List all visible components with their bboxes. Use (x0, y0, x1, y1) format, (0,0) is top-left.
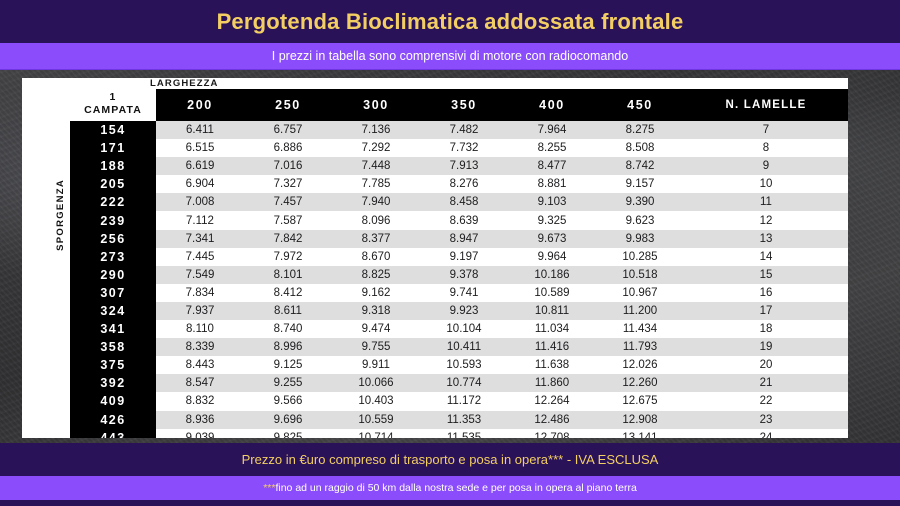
lamelle-cell: 17 (684, 302, 848, 320)
axis-label-larghezza: LARGHEZZA (150, 78, 218, 89)
corner-line-1: 1 (70, 91, 156, 103)
row-header-sporgenza: 307 (70, 284, 156, 302)
price-cell: 9.911 (332, 356, 420, 374)
price-cell: 7.937 (156, 302, 244, 320)
price-cell: 8.936 (156, 411, 244, 429)
row-header-sporgenza: 324 (70, 302, 156, 320)
price-cell: 9.923 (420, 302, 508, 320)
price-cell: 8.825 (332, 266, 420, 284)
price-cell: 8.443 (156, 356, 244, 374)
price-cell: 8.881 (508, 175, 596, 193)
price-cell: 6.411 (156, 121, 244, 139)
price-cell: 9.623 (596, 211, 684, 229)
price-cell: 10.559 (332, 411, 420, 429)
price-cell: 8.275 (596, 121, 684, 139)
table-row: 1716.5156.8867.2927.7328.2558.5088 (70, 139, 848, 157)
price-cell: 13.141 (596, 429, 684, 438)
price-cell: 7.482 (420, 121, 508, 139)
row-header-sporgenza: 205 (70, 175, 156, 193)
price-cell: 7.964 (508, 121, 596, 139)
row-header-sporgenza: 239 (70, 211, 156, 229)
footer-note-text: ***fino ad un raggio di 50 km dalla nost… (263, 482, 637, 494)
price-cell: 7.842 (244, 230, 332, 248)
price-cell: 7.327 (244, 175, 332, 193)
price-cell: 10.411 (420, 338, 508, 356)
header-row: 1 CAMPATA 200 250 300 350 400 450 N. LAM… (70, 89, 848, 121)
price-cell: 10.967 (596, 284, 684, 302)
row-header-sporgenza: 290 (70, 266, 156, 284)
table-row: 3758.4439.1259.91110.59311.63812.02620 (70, 356, 848, 374)
price-table-body: 1546.4116.7577.1367.4827.9648.27571716.5… (70, 121, 848, 438)
price-cell: 8.742 (596, 157, 684, 175)
subtitle-band: I prezzi in tabella sono comprensivi di … (0, 43, 900, 70)
price-cell: 7.940 (332, 193, 420, 211)
price-cell: 7.112 (156, 211, 244, 229)
title-band: Pergotenda Bioclimatica addossata fronta… (0, 0, 900, 43)
price-cell: 8.670 (332, 248, 420, 266)
price-cell: 9.157 (596, 175, 684, 193)
price-cell: 10.811 (508, 302, 596, 320)
row-header-sporgenza: 341 (70, 320, 156, 338)
price-cell: 11.200 (596, 302, 684, 320)
lamelle-cell: 13 (684, 230, 848, 248)
price-cell: 8.996 (244, 338, 332, 356)
price-cell: 8.276 (420, 175, 508, 193)
price-cell: 8.639 (420, 211, 508, 229)
price-cell: 6.757 (244, 121, 332, 139)
table-row: 3588.3398.9969.75510.41111.41611.79319 (70, 338, 848, 356)
price-cell: 10.066 (332, 374, 420, 392)
price-cell: 9.255 (244, 374, 332, 392)
header-corner-campata: 1 CAMPATA (70, 89, 156, 121)
table-row: 2907.5498.1018.8259.37810.18610.51815 (70, 266, 848, 284)
price-cell: 9.474 (332, 320, 420, 338)
price-cell: 9.103 (508, 193, 596, 211)
price-cell: 11.034 (508, 320, 596, 338)
lamelle-cell: 7 (684, 121, 848, 139)
lamelle-cell: 24 (684, 429, 848, 438)
price-cell: 9.197 (420, 248, 508, 266)
price-cell: 6.886 (244, 139, 332, 157)
page-subtitle: I prezzi in tabella sono comprensivi di … (272, 49, 628, 63)
price-cell: 9.318 (332, 302, 420, 320)
price-cell: 10.186 (508, 266, 596, 284)
price-cell: 7.457 (244, 193, 332, 211)
price-cell: 11.416 (508, 338, 596, 356)
column-header-250: 250 (244, 89, 332, 121)
price-cell: 8.477 (508, 157, 596, 175)
price-cell: 6.515 (156, 139, 244, 157)
price-cell: 8.096 (332, 211, 420, 229)
page-title: Pergotenda Bioclimatica addossata fronta… (217, 9, 684, 35)
footer-note-band: ***fino ad un raggio di 50 km dalla nost… (0, 476, 900, 500)
table-row: 2737.4457.9728.6709.1979.96410.28514 (70, 248, 848, 266)
price-table: 1 CAMPATA 200 250 300 350 400 450 N. LAM… (70, 89, 848, 438)
table-row: 3247.9378.6119.3189.92310.81111.20017 (70, 302, 848, 320)
row-header-sporgenza: 256 (70, 230, 156, 248)
price-cell: 7.341 (156, 230, 244, 248)
corner-line-2: CAMPATA (70, 104, 156, 116)
price-cell: 12.675 (596, 392, 684, 410)
table-row: 2227.0087.4577.9408.4589.1039.39011 (70, 193, 848, 211)
price-cell: 7.008 (156, 193, 244, 211)
lamelle-cell: 9 (684, 157, 848, 175)
price-cell: 9.039 (156, 429, 244, 438)
lamelle-cell: 22 (684, 392, 848, 410)
price-cell: 9.125 (244, 356, 332, 374)
table-row: 4268.9369.69610.55911.35312.48612.90823 (70, 411, 848, 429)
price-cell: 7.913 (420, 157, 508, 175)
price-cell: 7.785 (332, 175, 420, 193)
price-cell: 10.104 (420, 320, 508, 338)
price-cell: 11.860 (508, 374, 596, 392)
row-header-sporgenza: 409 (70, 392, 156, 410)
table-row: 3077.8348.4129.1629.74110.58910.96716 (70, 284, 848, 302)
price-cell: 6.619 (156, 157, 244, 175)
price-cell: 9.566 (244, 392, 332, 410)
axis-label-sporgenza: SPORGENZA (52, 110, 68, 320)
footer-main-text: Prezzo in €uro compreso di trasporto e p… (242, 452, 659, 467)
column-header-300: 300 (332, 89, 420, 121)
price-cell: 7.016 (244, 157, 332, 175)
table-row: 2397.1127.5878.0968.6399.3259.62312 (70, 211, 848, 229)
price-cell: 7.448 (332, 157, 420, 175)
price-cell: 7.136 (332, 121, 420, 139)
row-header-sporgenza: 171 (70, 139, 156, 157)
footer-note-body: fino ad un raggio di 50 km dalla nostra … (275, 482, 636, 494)
price-cell: 8.611 (244, 302, 332, 320)
price-cell: 8.255 (508, 139, 596, 157)
price-cell: 9.378 (420, 266, 508, 284)
price-cell: 9.825 (244, 429, 332, 438)
price-cell: 7.587 (244, 211, 332, 229)
row-header-sporgenza: 273 (70, 248, 156, 266)
price-cell: 10.589 (508, 284, 596, 302)
price-cell: 9.162 (332, 284, 420, 302)
column-header-450: 450 (596, 89, 684, 121)
price-cell: 11.793 (596, 338, 684, 356)
price-cell: 12.908 (596, 411, 684, 429)
price-cell: 8.412 (244, 284, 332, 302)
price-table-head: 1 CAMPATA 200 250 300 350 400 450 N. LAM… (70, 89, 848, 121)
row-header-sporgenza: 443 (70, 429, 156, 438)
lamelle-cell: 18 (684, 320, 848, 338)
price-cell: 9.983 (596, 230, 684, 248)
lamelle-cell: 23 (684, 411, 848, 429)
price-cell: 7.549 (156, 266, 244, 284)
price-cell: 12.260 (596, 374, 684, 392)
price-cell: 8.740 (244, 320, 332, 338)
row-header-sporgenza: 358 (70, 338, 156, 356)
row-header-sporgenza: 426 (70, 411, 156, 429)
table-row: 2567.3417.8428.3778.9479.6739.98313 (70, 230, 848, 248)
column-header-200: 200 (156, 89, 244, 121)
axis-label-sporgenza-text: SPORGENZA (55, 179, 66, 251)
price-cell: 11.638 (508, 356, 596, 374)
lamelle-cell: 20 (684, 356, 848, 374)
price-cell: 9.755 (332, 338, 420, 356)
table-row: 1886.6197.0167.4487.9138.4778.7429 (70, 157, 848, 175)
lamelle-cell: 11 (684, 193, 848, 211)
price-cell: 10.714 (332, 429, 420, 438)
price-cell: 10.593 (420, 356, 508, 374)
column-header-350: 350 (420, 89, 508, 121)
row-header-sporgenza: 375 (70, 356, 156, 374)
price-cell: 8.339 (156, 338, 244, 356)
row-header-sporgenza: 154 (70, 121, 156, 139)
row-header-sporgenza: 222 (70, 193, 156, 211)
price-grid: 1 CAMPATA 200 250 300 350 400 450 N. LAM… (70, 89, 848, 438)
price-cell: 8.101 (244, 266, 332, 284)
price-cell: 11.535 (420, 429, 508, 438)
table-row: 4439.0399.82510.71411.53512.70813.14124 (70, 429, 848, 438)
price-cell: 10.403 (332, 392, 420, 410)
price-cell: 12.026 (596, 356, 684, 374)
price-cell: 8.110 (156, 320, 244, 338)
price-cell: 12.486 (508, 411, 596, 429)
lamelle-cell: 10 (684, 175, 848, 193)
price-cell: 12.264 (508, 392, 596, 410)
lamelle-cell: 15 (684, 266, 848, 284)
price-cell: 8.377 (332, 230, 420, 248)
column-header-lamelle: N. LAMELLE (684, 89, 848, 121)
lamelle-cell: 21 (684, 374, 848, 392)
lamelle-cell: 16 (684, 284, 848, 302)
price-cell: 8.458 (420, 193, 508, 211)
price-cell: 6.904 (156, 175, 244, 193)
price-cell: 8.832 (156, 392, 244, 410)
price-cell: 11.172 (420, 392, 508, 410)
price-cell: 11.434 (596, 320, 684, 338)
price-cell: 7.445 (156, 248, 244, 266)
footer-note-stars: *** (263, 482, 275, 494)
price-cell: 9.325 (508, 211, 596, 229)
column-header-400: 400 (508, 89, 596, 121)
slide-root: Pergotenda Bioclimatica addossata fronta… (0, 0, 900, 506)
row-header-sporgenza: 392 (70, 374, 156, 392)
price-cell: 7.834 (156, 284, 244, 302)
price-cell: 9.696 (244, 411, 332, 429)
price-cell: 8.947 (420, 230, 508, 248)
table-row: 3928.5479.25510.06610.77411.86012.26021 (70, 374, 848, 392)
table-row: 4098.8329.56610.40311.17212.26412.67522 (70, 392, 848, 410)
price-table-panel: SPORGENZA LARGHEZZA 1 CAMPATA (22, 78, 848, 438)
table-row: 3418.1108.7409.47410.10411.03411.43418 (70, 320, 848, 338)
price-cell: 9.741 (420, 284, 508, 302)
lamelle-cell: 8 (684, 139, 848, 157)
table-row: 1546.4116.7577.1367.4827.9648.2757 (70, 121, 848, 139)
price-cell: 8.508 (596, 139, 684, 157)
price-cell: 7.732 (420, 139, 508, 157)
price-cell: 10.285 (596, 248, 684, 266)
table-row: 2056.9047.3277.7858.2768.8819.15710 (70, 175, 848, 193)
lamelle-cell: 12 (684, 211, 848, 229)
lamelle-cell: 14 (684, 248, 848, 266)
price-cell: 8.547 (156, 374, 244, 392)
row-header-sporgenza: 188 (70, 157, 156, 175)
price-cell: 9.964 (508, 248, 596, 266)
price-cell: 11.353 (420, 411, 508, 429)
price-cell: 10.518 (596, 266, 684, 284)
price-cell: 10.774 (420, 374, 508, 392)
lamelle-cell: 19 (684, 338, 848, 356)
price-cell: 12.708 (508, 429, 596, 438)
price-cell: 7.972 (244, 248, 332, 266)
price-cell: 7.292 (332, 139, 420, 157)
footer-bottom-strip (0, 500, 900, 506)
price-cell: 9.390 (596, 193, 684, 211)
footer-main-band: Prezzo in €uro compreso di trasporto e p… (0, 443, 900, 476)
price-cell: 9.673 (508, 230, 596, 248)
